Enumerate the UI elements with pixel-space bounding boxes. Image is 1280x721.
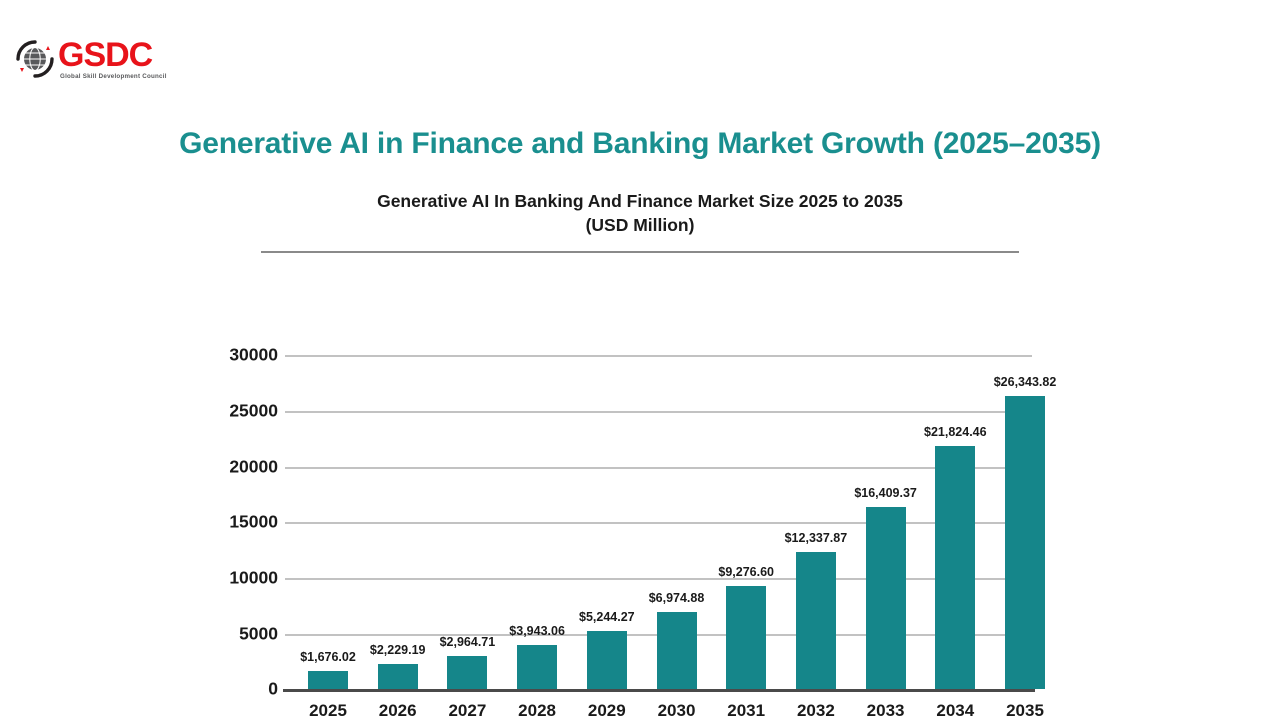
bar-value-label: $9,276.60	[718, 565, 774, 579]
globe-icon	[14, 38, 56, 80]
y-axis-tick-label: 5000	[158, 623, 278, 644]
chart-title-line-2: (USD Million)	[260, 214, 1020, 238]
bar-value-label: $1,676.02	[300, 650, 356, 664]
bar-2031[interactable]	[726, 586, 766, 689]
bar-2029[interactable]	[587, 631, 627, 689]
bar-2035[interactable]	[1005, 396, 1045, 689]
gridline	[285, 467, 1032, 469]
bar-value-label: $16,409.37	[854, 486, 917, 500]
chart-container: Generative AI In Banking And Finance Mar…	[0, 190, 1280, 683]
y-axis-tick-label: 25000	[158, 400, 278, 421]
bar-2030[interactable]	[657, 612, 697, 690]
x-axis-tick-label: 2030	[658, 701, 696, 721]
x-axis-tick-label: 2035	[1006, 701, 1044, 721]
bar-value-label: $5,244.27	[579, 610, 635, 624]
bar-value-label: $2,964.71	[440, 635, 496, 649]
logo-tagline: Global Skill Development Council	[60, 74, 167, 80]
chart-title-line-1: Generative AI In Banking And Finance Mar…	[260, 190, 1020, 214]
bar-value-label: $6,974.88	[649, 591, 705, 605]
y-axis-tick-label: 0	[158, 679, 278, 700]
y-axis-tick-label: 15000	[158, 512, 278, 533]
bar-value-label: $21,824.46	[924, 425, 987, 439]
bar-chart-plot-area: 050001000015000200002500030000$1,676.022…	[0, 263, 1280, 683]
bar-2032[interactable]	[796, 552, 836, 689]
x-axis-line	[283, 689, 1035, 692]
bar-2028[interactable]	[517, 645, 557, 689]
bar-value-label: $3,943.06	[509, 624, 565, 638]
y-axis-tick-label: 30000	[158, 345, 278, 366]
bar-2034[interactable]	[935, 446, 975, 689]
gridline	[285, 411, 1032, 413]
x-axis-tick-label: 2029	[588, 701, 626, 721]
bar-value-label: $26,343.82	[994, 375, 1057, 389]
bar-value-label: $2,229.19	[370, 643, 426, 657]
bar-2026[interactable]	[378, 664, 418, 689]
bar-2033[interactable]	[866, 507, 906, 690]
page-title: Generative AI in Finance and Banking Mar…	[0, 127, 1280, 161]
chart-title: Generative AI In Banking And Finance Mar…	[260, 190, 1020, 237]
logo-wordmark: GSDC	[58, 38, 167, 72]
x-axis-tick-label: 2034	[936, 701, 974, 721]
bar-2027[interactable]	[447, 656, 487, 689]
bar-2025[interactable]	[308, 671, 348, 690]
x-axis-tick-label: 2032	[797, 701, 835, 721]
gridline	[285, 578, 1032, 580]
gridline	[285, 355, 1032, 357]
chart-title-divider	[261, 251, 1019, 253]
gsdc-logo: GSDC Global Skill Development Council	[14, 38, 167, 80]
x-axis-tick-label: 2026	[379, 701, 417, 721]
x-axis-tick-label: 2025	[309, 701, 347, 721]
y-axis-tick-label: 20000	[158, 456, 278, 477]
x-axis-tick-label: 2033	[867, 701, 905, 721]
y-axis-tick-label: 10000	[158, 567, 278, 588]
x-axis-tick-label: 2027	[448, 701, 486, 721]
x-axis-tick-label: 2028	[518, 701, 556, 721]
gridline	[285, 522, 1032, 524]
x-axis-tick-label: 2031	[727, 701, 765, 721]
bar-value-label: $12,337.87	[785, 531, 848, 545]
